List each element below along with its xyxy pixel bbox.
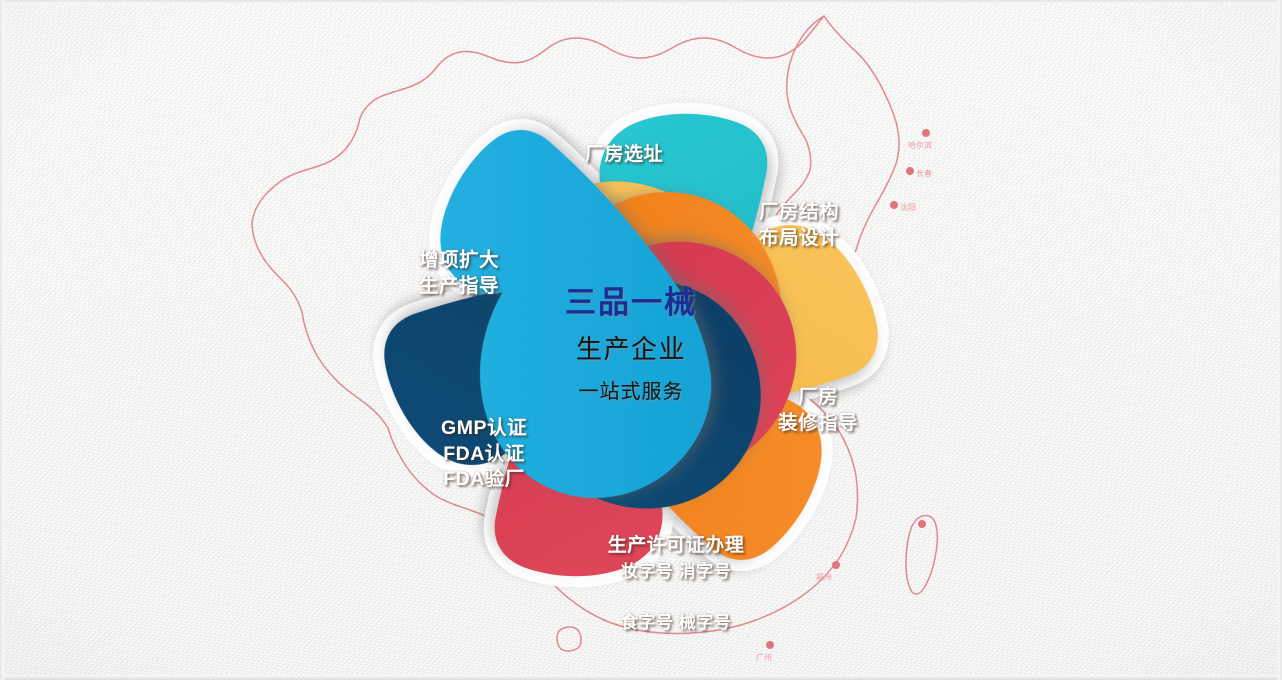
canvas-edge-left	[0, 0, 4, 680]
canvas-edge-top	[0, 0, 1282, 4]
canvas-edge-bottom	[0, 675, 1282, 680]
infographic-canvas: 哈尔滨 长春 沈阳 济南 郑州 福州 广州	[0, 0, 1282, 680]
pinwheel-diagram	[0, 0, 1282, 680]
canvas-edge-right	[1278, 0, 1282, 680]
